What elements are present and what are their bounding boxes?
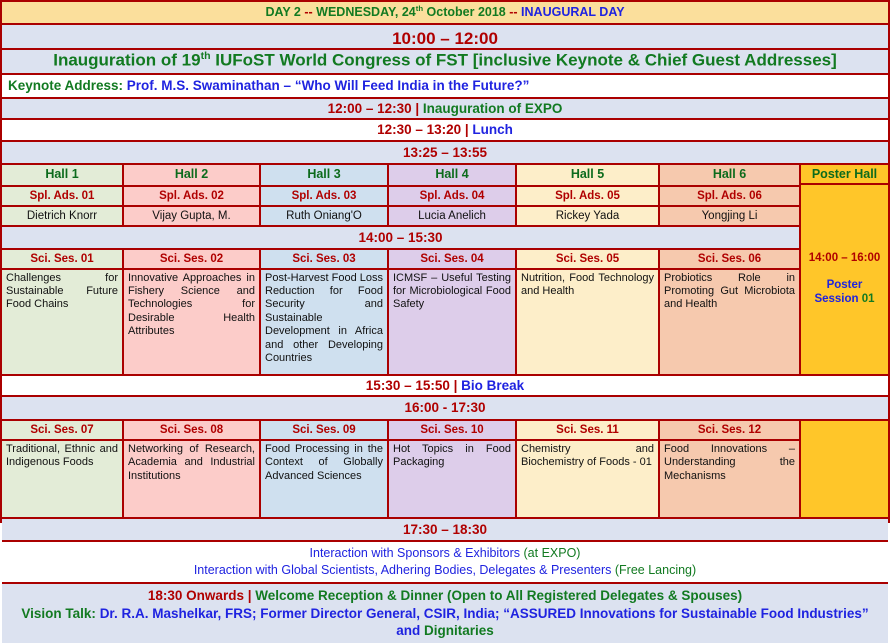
expo-time: 12:00 – 12:30 xyxy=(328,101,412,116)
lunch-time: 12:30 – 13:20 xyxy=(377,122,461,137)
poster-session-time: 14:00 – 16:00 xyxy=(809,252,881,264)
special-address-code-1[interactable]: Spl. Ads. 01 xyxy=(2,187,124,205)
day-separator-1: -- xyxy=(301,5,316,19)
interaction-line-1-main: Interaction with Sponsors & Exhibitors xyxy=(310,546,524,560)
interaction-line-2: Interaction with Global Scientists, Adhe… xyxy=(6,562,884,579)
session-title-06[interactable]: Probiotics Role in Promoting Gut Microbi… xyxy=(660,270,799,374)
inaugural-title-row: Inauguration of 19th IUFoST World Congre… xyxy=(2,50,888,75)
session-title-03[interactable]: Post-Harvest Food Loss Reduction for Foo… xyxy=(261,270,389,374)
session-code-03[interactable]: Sci. Ses. 03 xyxy=(261,250,389,268)
session-title-05[interactable]: Nutrition, Food Technology and Health xyxy=(517,270,660,374)
closing-line-2: Vision Talk: Dr. R.A. Mashelkar, FRS; Fo… xyxy=(8,605,882,623)
poster-hall-header: Poster Hall xyxy=(801,165,888,185)
hall-header-row: Hall 1 Hall 2 Hall 3 Hall 4 Hall 5 Hall … xyxy=(2,165,799,186)
closing-and-word: and xyxy=(396,623,424,638)
closing-time: 18:30 Onwards xyxy=(148,588,244,603)
special-address-speaker-1[interactable]: Dietrich Knorr xyxy=(2,207,124,225)
poster-hall-body: 14:00 – 16:00 Poster Session 01 xyxy=(801,185,888,373)
special-address-code-3[interactable]: Spl. Ads. 03 xyxy=(261,187,389,205)
evening-grid-with-poster: Sci. Ses. 07 Sci. Ses. 08 Sci. Ses. 09 S… xyxy=(2,421,888,519)
interaction-line-1: Interaction with Sponsors & Exhibitors (… xyxy=(6,545,884,562)
session-code-row-evening: Sci. Ses. 07 Sci. Ses. 08 Sci. Ses. 09 S… xyxy=(2,421,799,441)
inaugural-title-b: IUFoST World Congress of FST [inclusive … xyxy=(211,51,837,70)
keynote-label: Keynote Address: xyxy=(8,78,127,93)
interaction-line-2-main: Interaction with Global Scientists, Adhe… xyxy=(194,563,615,577)
special-address-code-2[interactable]: Spl. Ads. 02 xyxy=(124,187,261,205)
inaugural-time-row: 10:00 – 12:00 xyxy=(2,25,888,51)
day-date-rest: October 2018 xyxy=(423,5,506,19)
special-address-code-row: Spl. Ads. 01 Spl. Ads. 02 Spl. Ads. 03 S… xyxy=(2,187,799,207)
session-title-row-evening: Traditional, Ethnic and Indigenous Foods… xyxy=(2,441,799,517)
session-code-08[interactable]: Sci. Ses. 08 xyxy=(124,421,261,439)
closing-row: 18:30 Onwards | Welcome Reception & Dinn… xyxy=(2,584,888,643)
poster-hall-body-evening xyxy=(801,421,888,517)
lunch-row: 12:30 – 13:20 | Lunch xyxy=(2,120,888,142)
session-title-12[interactable]: Food Innovations – Understanding the Mec… xyxy=(660,441,799,517)
vision-talk-label: Vision Talk: xyxy=(21,606,99,621)
session-title-10[interactable]: Hot Topics in Food Packaging xyxy=(389,441,517,517)
keynote-row: Keynote Address: Prof. M.S. Swaminathan … xyxy=(2,75,888,99)
hall-header-3[interactable]: Hall 3 xyxy=(261,165,389,184)
evening-halls-grid: Sci. Ses. 07 Sci. Ses. 08 Sci. Ses. 09 S… xyxy=(2,421,799,517)
bio-break-row: 15:30 – 15:50 | Bio Break xyxy=(2,376,888,398)
special-address-code-6[interactable]: Spl. Ads. 06 xyxy=(660,187,799,205)
closing-line-3: and Dignitaries xyxy=(8,622,882,640)
poster-session-word: Poster xyxy=(827,279,863,291)
hall-header-2[interactable]: Hall 2 xyxy=(124,165,261,184)
special-address-code-4[interactable]: Spl. Ads. 04 xyxy=(389,187,517,205)
special-address-speaker-5[interactable]: Rickey Yada xyxy=(517,207,660,225)
day-type: INAUGURAL DAY xyxy=(521,5,625,19)
session-title-01[interactable]: Challenges for Sustainable Future Food C… xyxy=(2,270,124,374)
day-date-ordinal: th xyxy=(416,4,423,13)
poster-session-number: 01 xyxy=(862,293,875,305)
inaugural-time: 10:00 – 12:00 xyxy=(6,27,884,49)
session-code-02[interactable]: Sci. Ses. 02 xyxy=(124,250,261,268)
session-code-05[interactable]: Sci. Ses. 05 xyxy=(517,250,660,268)
keynote-speaker: Prof. M.S. Swaminathan – “Who Will Feed … xyxy=(127,78,530,93)
session-title-08[interactable]: Networking of Research, Academia and Ind… xyxy=(124,441,261,517)
lunch-label: Lunch xyxy=(472,122,513,137)
bio-break-separator: | xyxy=(450,378,461,393)
bio-break-label: Bio Break xyxy=(461,378,524,393)
closing-dignitaries: Dignitaries xyxy=(424,623,494,638)
closing-separator: | xyxy=(244,588,255,603)
slot3-time-row: 16:00 - 17:30 xyxy=(2,397,888,421)
session-title-row-afternoon: Challenges for Sustainable Future Food C… xyxy=(2,270,799,374)
session-code-row-afternoon: Sci. Ses. 01 Sci. Ses. 02 Sci. Ses. 03 S… xyxy=(2,250,799,270)
session-code-01[interactable]: Sci. Ses. 01 xyxy=(2,250,124,268)
session-title-02[interactable]: Innovative Approaches in Fishery Science… xyxy=(124,270,261,374)
session-code-09[interactable]: Sci. Ses. 09 xyxy=(261,421,389,439)
special-address-code-5[interactable]: Spl. Ads. 05 xyxy=(517,187,660,205)
hall-header-6[interactable]: Hall 6 xyxy=(660,165,799,184)
session-title-07[interactable]: Traditional, Ethnic and Indigenous Foods xyxy=(2,441,124,517)
interaction-line-2-note: (Free Lancing) xyxy=(615,563,696,577)
poster-hall-column[interactable]: Poster Hall 14:00 – 16:00 Poster Session… xyxy=(799,165,888,373)
day-label: DAY 2 xyxy=(265,5,300,19)
special-address-speaker-3[interactable]: Ruth Oniang'O xyxy=(261,207,389,225)
vision-talk-text: Dr. R.A. Mashelkar, FRS; Former Director… xyxy=(100,606,869,621)
special-address-speaker-row: Dietrich Knorr Vijay Gupta, M. Ruth Onia… xyxy=(2,207,799,227)
session-code-07[interactable]: Sci. Ses. 07 xyxy=(2,421,124,439)
day-banner: DAY 2 -- WEDNESDAY, 24th October 2018 --… xyxy=(2,2,888,25)
interaction-row: Interaction with Sponsors & Exhibitors (… xyxy=(2,542,888,584)
special-address-speaker-4[interactable]: Lucia Anelich xyxy=(389,207,517,225)
session-code-06[interactable]: Sci. Ses. 06 xyxy=(660,250,799,268)
slot1-time-row: 13:25 – 13:55 xyxy=(2,142,888,166)
inaugural-title-a: Inauguration of 19 xyxy=(53,51,200,70)
interaction-line-1-note: (at EXPO) xyxy=(524,546,581,560)
session-title-04[interactable]: ICMSF – Useful Testing for Microbiologic… xyxy=(389,270,517,374)
special-address-speaker-2[interactable]: Vijay Gupta, M. xyxy=(124,207,261,225)
poster-session-label: Poster Session 01 xyxy=(814,278,874,307)
expo-row: 12:00 – 12:30 | Inauguration of EXPO xyxy=(2,99,888,121)
closing-event: Welcome Reception & Dinner (Open to All … xyxy=(255,588,742,603)
conference-schedule-table: DAY 2 -- WEDNESDAY, 24th October 2018 --… xyxy=(0,0,890,523)
session-title-09[interactable]: Food Processing in the Context of Global… xyxy=(261,441,389,517)
hall-header-5[interactable]: Hall 5 xyxy=(517,165,660,184)
closing-line-1: 18:30 Onwards | Welcome Reception & Dinn… xyxy=(8,587,882,605)
session-code-11[interactable]: Sci. Ses. 11 xyxy=(517,421,660,439)
lunch-separator: | xyxy=(461,122,472,137)
inaugural-title-ordinal: th xyxy=(201,50,211,62)
special-address-speaker-6[interactable]: Yongjing Li xyxy=(660,207,799,225)
expo-label: Inauguration of EXPO xyxy=(423,101,563,116)
session-title-11[interactable]: Chemistry and Biochemistry of Foods - 01 xyxy=(517,441,660,517)
hall-header-4[interactable]: Hall 4 xyxy=(389,165,517,184)
poster-hall-column-evening xyxy=(799,421,888,517)
slot2-time-row: 14:00 – 15:30 xyxy=(2,227,799,250)
bio-break-time: 15:30 – 15:50 xyxy=(366,378,450,393)
poster-session-word2: Session xyxy=(814,293,861,305)
hall-header-1[interactable]: Hall 1 xyxy=(2,165,124,184)
halls-grid: Hall 1 Hall 2 Hall 3 Hall 4 Hall 5 Hall … xyxy=(2,165,799,373)
expo-separator: | xyxy=(412,101,423,116)
session-code-12[interactable]: Sci. Ses. 12 xyxy=(660,421,799,439)
slot4-time-row: 17:30 – 18:30 xyxy=(2,519,888,543)
session-code-04[interactable]: Sci. Ses. 04 xyxy=(389,250,517,268)
day-separator-2: -- xyxy=(506,5,521,19)
halls-grid-with-poster: Hall 1 Hall 2 Hall 3 Hall 4 Hall 5 Hall … xyxy=(2,165,888,375)
day-date: WEDNESDAY, 24 xyxy=(316,5,416,19)
session-code-10[interactable]: Sci. Ses. 10 xyxy=(389,421,517,439)
